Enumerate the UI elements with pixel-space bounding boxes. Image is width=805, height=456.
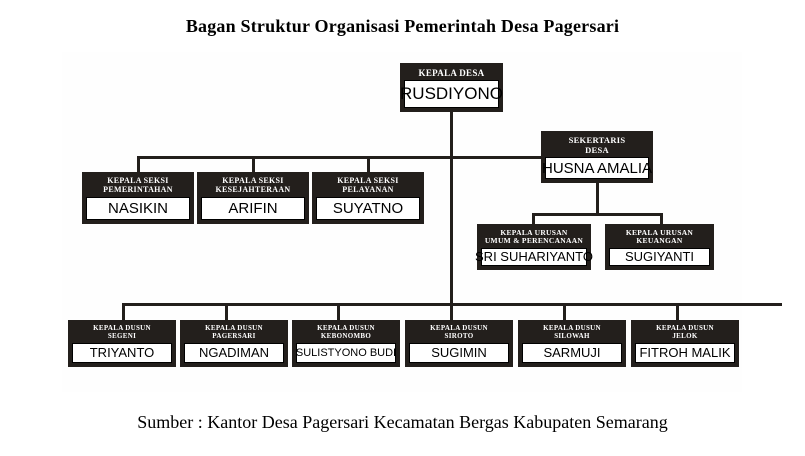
- node-seksi-pelayanan-title: KEPALA SEKSI PELAYANAN: [316, 176, 420, 197]
- node-seksi-pelayanan-name: SUYATNO: [316, 197, 420, 220]
- node-dusun-segeni-title: KEPALA DUSUN SEGENI: [72, 324, 172, 343]
- connector-drop-dusun-segeni: [122, 303, 125, 321]
- node-seksi-kesejahteraan-name: ARIFIN: [201, 197, 305, 220]
- connector-bus-urusan: [532, 213, 663, 216]
- node-urusan-umum[interactable]: KEPALA URUSAN UMUM & PERENCANAAN SRI SUH…: [477, 224, 591, 270]
- node-dusun-pagersari-title: KEPALA DUSUN PAGERSARI: [184, 324, 284, 343]
- node-urusan-keuangan-name: SUGIYANTI: [609, 248, 710, 266]
- node-kepala-desa-title: KEPALA DESA: [404, 67, 499, 80]
- node-sekretaris-desa-title: SEKERTARIS DESA: [545, 135, 649, 157]
- connector-drop-dusun-jelok: [676, 303, 679, 321]
- node-dusun-pagersari[interactable]: KEPALA DUSUN PAGERSARI NGADIMAN: [180, 320, 288, 367]
- node-dusun-jelok[interactable]: KEPALA DUSUN JELOK FITROH MALIK: [631, 320, 739, 367]
- node-kepala-desa-name: RUSDIYONO: [404, 80, 499, 108]
- node-dusun-kebonombo-name: SULISTYONO BUDI: [296, 343, 396, 363]
- connector-drop-dusun-kebonombo: [337, 303, 340, 321]
- source-caption: Sumber : Kantor Desa Pagersari Kecamatan…: [0, 412, 805, 433]
- node-seksi-pemerintahan-name: NASIKIN: [86, 197, 190, 220]
- node-seksi-kesejahteraan-title: KEPALA SEKSI KESEJAHTERAAN: [201, 176, 305, 197]
- connector-drop-dusun-pagersari: [225, 303, 228, 321]
- node-dusun-segeni-name: TRIYANTO: [72, 343, 172, 363]
- connector-drop-dusun-silowah: [563, 303, 566, 321]
- node-dusun-kebonombo-title: KEPALA DUSUN KEBONOMBO: [296, 324, 396, 343]
- connector-drop-dusun-siroto: [450, 303, 453, 321]
- node-urusan-keuangan-title: KEPALA URUSAN KEUANGAN: [609, 228, 710, 248]
- node-dusun-siroto-name: SUGIMIN: [409, 343, 509, 363]
- node-dusun-kebonombo[interactable]: KEPALA DUSUN KEBONOMBO SULISTYONO BUDI: [292, 320, 400, 367]
- node-dusun-segeni[interactable]: KEPALA DUSUN SEGENI TRIYANTO: [68, 320, 176, 367]
- node-dusun-jelok-name: FITROH MALIK: [635, 343, 735, 363]
- node-urusan-keuangan[interactable]: KEPALA URUSAN KEUANGAN SUGIYANTI: [605, 224, 714, 270]
- node-seksi-pemerintahan[interactable]: KEPALA SEKSI PEMERINTAHAN NASIKIN: [82, 172, 194, 224]
- node-seksi-pemerintahan-title: KEPALA SEKSI PEMERINTAHAN: [86, 176, 190, 197]
- node-sekretaris-desa-name: HUSNA AMALIA: [545, 157, 649, 179]
- connector-drop-sekretaris: [596, 183, 599, 215]
- node-sekretaris-desa[interactable]: SEKERTARIS DESA HUSNA AMALIA: [541, 131, 653, 183]
- node-seksi-kesejahteraan[interactable]: KEPALA SEKSI KESEJAHTERAAN ARIFIN: [197, 172, 309, 224]
- org-chart-page: Bagan Struktur Organisasi Pemerintah Des…: [0, 0, 805, 456]
- node-dusun-silowah-title: KEPALA DUSUN SILOWAH: [522, 324, 622, 343]
- node-dusun-jelok-title: KEPALA DUSUN JELOK: [635, 324, 735, 343]
- node-urusan-umum-name: SRI SUHARIYANTO: [481, 248, 587, 266]
- node-kepala-desa[interactable]: KEPALA DESA RUSDIYONO: [400, 63, 503, 112]
- node-dusun-siroto-title: KEPALA DUSUN SIROTO: [409, 324, 509, 343]
- node-seksi-pelayanan[interactable]: KEPALA SEKSI PELAYANAN SUYATNO: [312, 172, 424, 224]
- connector-bus-level2: [137, 156, 557, 159]
- page-title: Bagan Struktur Organisasi Pemerintah Des…: [0, 16, 805, 37]
- node-dusun-siroto[interactable]: KEPALA DUSUN SIROTO SUGIMIN: [405, 320, 513, 367]
- node-dusun-silowah-name: SARMUJI: [522, 343, 622, 363]
- node-dusun-pagersari-name: NGADIMAN: [184, 343, 284, 363]
- node-dusun-silowah[interactable]: KEPALA DUSUN SILOWAH SARMUJI: [518, 320, 626, 367]
- connector-trunk-main: [450, 112, 453, 305]
- node-urusan-umum-title: KEPALA URUSAN UMUM & PERENCANAAN: [481, 228, 587, 248]
